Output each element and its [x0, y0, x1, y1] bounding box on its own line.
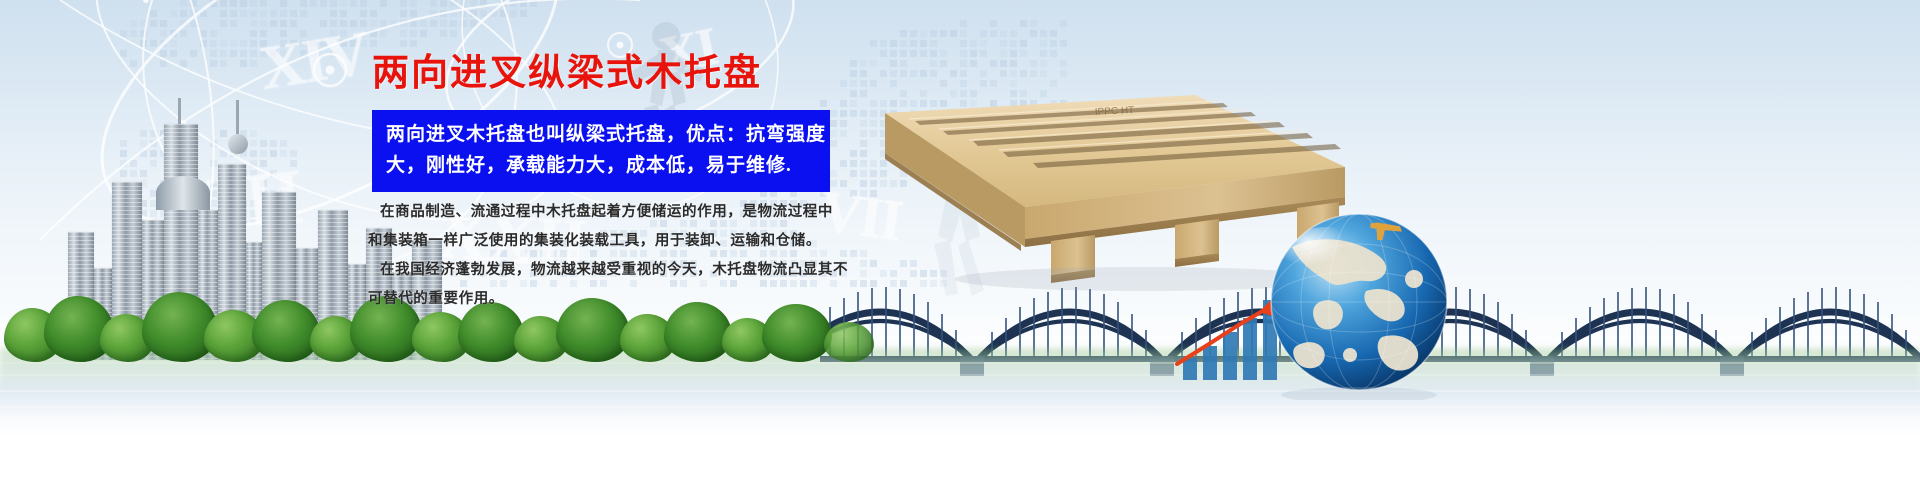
- growth-bar-chart: [1175, 300, 1295, 380]
- banner-body-copy: 在商品制造、流通过程中木托盘起着方便储运的作用，是物流过程中 和集装箱一样广泛使…: [368, 198, 868, 314]
- body-line-4: 可替代的重要作用。: [368, 285, 868, 314]
- banner-headline: 两向进叉纵梁式木托盘: [372, 52, 762, 96]
- athlete-silhouette-secondary-icon: [880, 150, 1030, 320]
- highlight-line-1: 两向进叉木托盘也叫纵梁式托盘，优点：抗弯强度: [386, 119, 818, 150]
- highlight-callout-box: 两向进叉木托盘也叫纵梁式托盘，优点：抗弯强度 大，刚性好，承载能力大，成本低，易…: [372, 110, 830, 192]
- numeral-2: VIII: [158, 151, 306, 255]
- water-reflection-band: [0, 348, 1920, 438]
- highlight-line-2: 大，刚性好，承载能力大，成本低，易于维修.: [386, 150, 818, 181]
- earth-globe-image: [1262, 205, 1457, 400]
- body-line-2: 和集装箱一样广泛使用的集装化装载工具，用于装卸、运输和仓储。: [368, 227, 868, 256]
- tree-reflection: [0, 348, 1920, 392]
- arch-bridge-illustration: [820, 270, 1920, 380]
- chart-bars: [1183, 300, 1277, 380]
- tree-line-illustration: [0, 272, 1920, 362]
- product-banner: XIV VIII XXII XI VII: [0, 0, 1920, 500]
- body-line-3: 在我国经济蓬勃发展，物流越来越受重视的今天，木托盘物流凸显其不: [368, 256, 868, 285]
- pallet-ippc-stamp: IPPC HT: [1095, 105, 1135, 118]
- airplane-icon: [1365, 214, 1403, 247]
- body-line-1: 在商品制造、流通过程中木托盘起着方便储运的作用，是物流过程中: [368, 198, 868, 227]
- trend-arrow-icon: [1177, 300, 1279, 364]
- numeral-1: XIV: [255, 18, 372, 105]
- wooden-pallet-image: IPPC HT: [845, 55, 1365, 320]
